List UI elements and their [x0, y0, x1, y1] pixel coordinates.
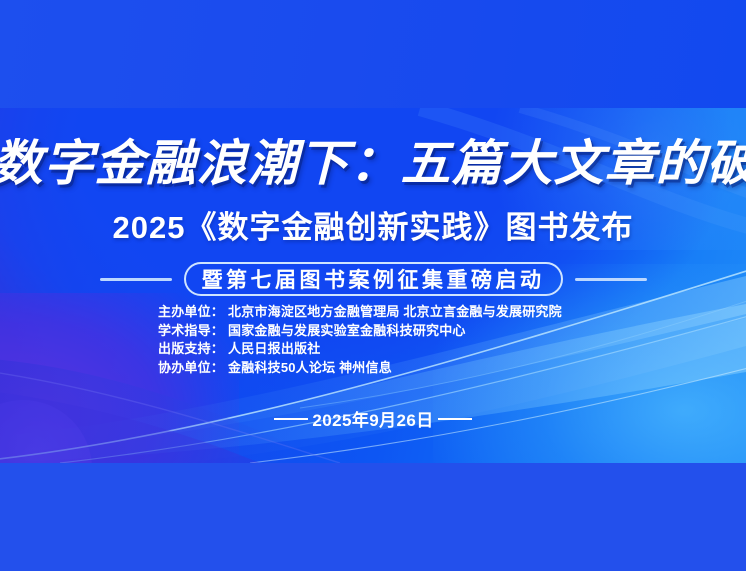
- pill-banner-row: 暨第七届图书案例征集重磅启动: [0, 261, 746, 297]
- event-date: 2025年9月26日: [312, 406, 433, 431]
- credit-line-organizer: 主办单位：北京市海淀区地方金融管理局 北京立言金融与发展研究院: [158, 303, 618, 322]
- credits-block: 主办单位：北京市海淀区地方金融管理局 北京立言金融与发展研究院 学术指导：国家金…: [158, 303, 618, 377]
- credit-label: 主办单位：: [158, 304, 224, 319]
- credit-line-academic-guidance: 学术指导：国家金融与发展实验室金融科技研究中心: [158, 322, 618, 341]
- credit-value: 北京市海淀区地方金融管理局 北京立言金融与发展研究院: [228, 304, 562, 319]
- credit-label: 出版支持：: [158, 341, 224, 356]
- date-rule-left: [274, 418, 308, 420]
- launch-pill-badge: 暨第七届图书案例征集重磅启动: [184, 262, 563, 296]
- credit-line-co-organizer: 协办单位：金融科技50人论坛 神州信息: [158, 359, 618, 378]
- credit-value: 金融科技50人论坛 神州信息: [228, 360, 392, 375]
- page-title: 数字金融浪潮下：五篇大文章的破局与重构: [0, 132, 746, 194]
- date-rule-right: [438, 418, 472, 420]
- poster-canvas: 数字金融浪潮下：五篇大文章的破局与重构 2025《数字金融创新实践》图书发布 暨…: [0, 0, 746, 571]
- credit-value: 人民日报出版社: [228, 341, 320, 356]
- credit-line-publishing-support: 出版支持：人民日报出版社: [158, 340, 618, 359]
- pill-rule-right: [575, 278, 647, 281]
- poster-subtitle: 2025《数字金融创新实践》图书发布: [0, 208, 746, 248]
- pill-rule-left: [100, 278, 172, 281]
- poster-content: 数字金融浪潮下：五篇大文章的破局与重构 2025《数字金融创新实践》图书发布 暨…: [0, 0, 746, 571]
- credit-label: 协办单位：: [158, 360, 224, 375]
- credit-label: 学术指导：: [158, 323, 224, 338]
- event-date-row: 2025年9月26日: [0, 406, 746, 431]
- credit-value: 国家金融与发展实验室金融科技研究中心: [228, 323, 466, 338]
